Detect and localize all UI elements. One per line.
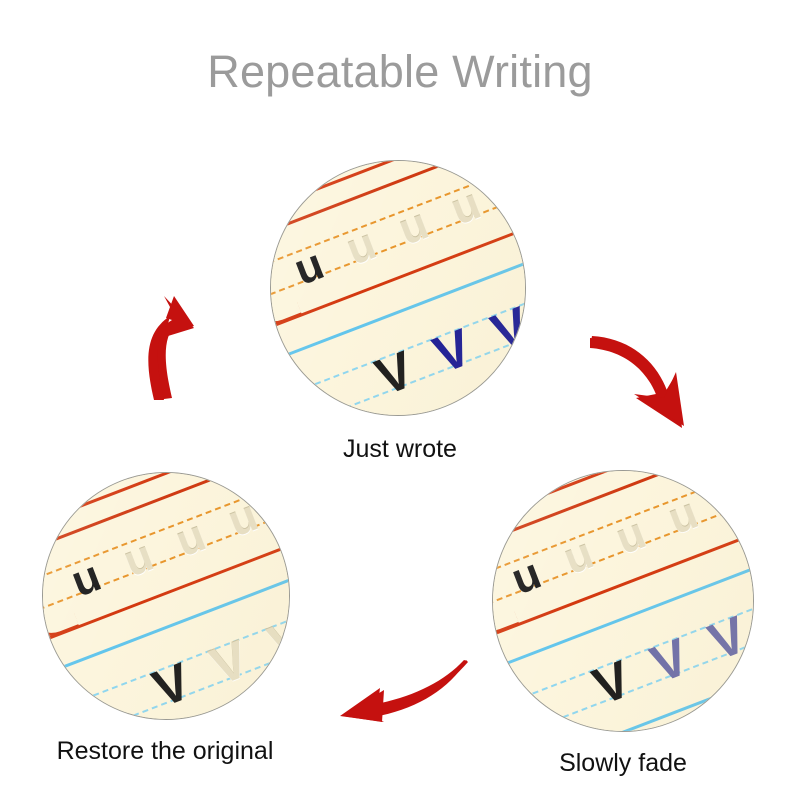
photo-slowly-fade[interactable]: 伞 u u u u u V V V V V — [492, 470, 754, 732]
photo-restore-the-original[interactable]: 伞 u u u u u V V V V — [42, 472, 290, 720]
page-title: Repeatable Writing — [0, 46, 800, 98]
photo-just-wrote[interactable]: u u u u u V V V V — [270, 160, 526, 416]
arrow-restore-to-just-wrote-icon — [128, 288, 238, 400]
arrow-slowly-fade-to-restore-icon — [340, 660, 468, 724]
caption-slowly-fade: Slowly fade — [492, 748, 754, 778]
arrow-just-wrote-to-slowly-fade-icon — [590, 332, 708, 448]
caption-restore-the-original: Restore the original — [0, 736, 330, 766]
glyph-v-groove: V — [730, 720, 754, 732]
workbook-paper: 伞 u u u u u V V V V — [42, 472, 290, 720]
workbook-paper: 伞 u u u u u V V V V V — [492, 470, 754, 732]
workbook-paper: u u u u u V V V V — [270, 160, 526, 416]
infographic-canvas: Repeatable Writing u u — [0, 0, 800, 800]
